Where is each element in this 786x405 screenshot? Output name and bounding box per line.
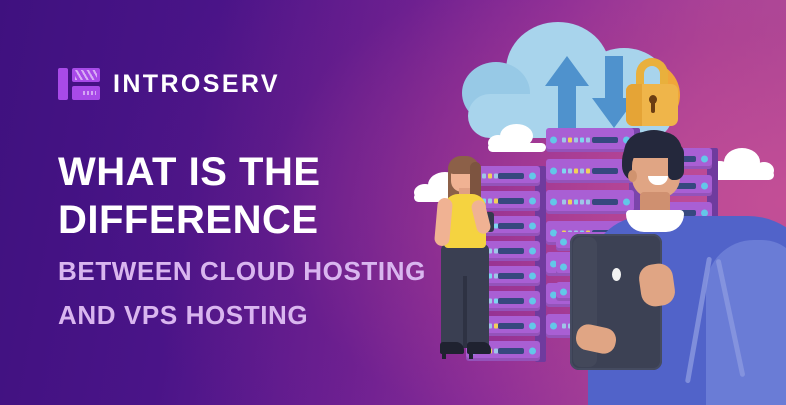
hero-banner: INTROSERV WHAT IS THE DIFFERENCE BETWEEN… (0, 0, 786, 405)
subheadline-line-1: BETWEEN CLOUD HOSTING (58, 249, 426, 293)
brand-name: INTROSERV (113, 72, 280, 97)
headline-line-1: WHAT IS THE (58, 148, 321, 196)
subheadline-line-2: AND VPS HOSTING (58, 293, 426, 337)
headline: WHAT IS THE DIFFERENCE (58, 148, 321, 244)
headline-line-2: DIFFERENCE (58, 196, 321, 244)
server-rack-logo-icon (58, 68, 100, 100)
padlock-icon (625, 58, 679, 126)
woman-technician-figure (428, 156, 504, 364)
small-cloud-icon (488, 124, 546, 152)
arrow-up-icon (545, 56, 589, 128)
subheadline: BETWEEN CLOUD HOSTING AND VPS HOSTING (58, 249, 426, 337)
brand-logo[interactable]: INTROSERV (58, 68, 280, 100)
man-technician-figure (588, 130, 786, 405)
